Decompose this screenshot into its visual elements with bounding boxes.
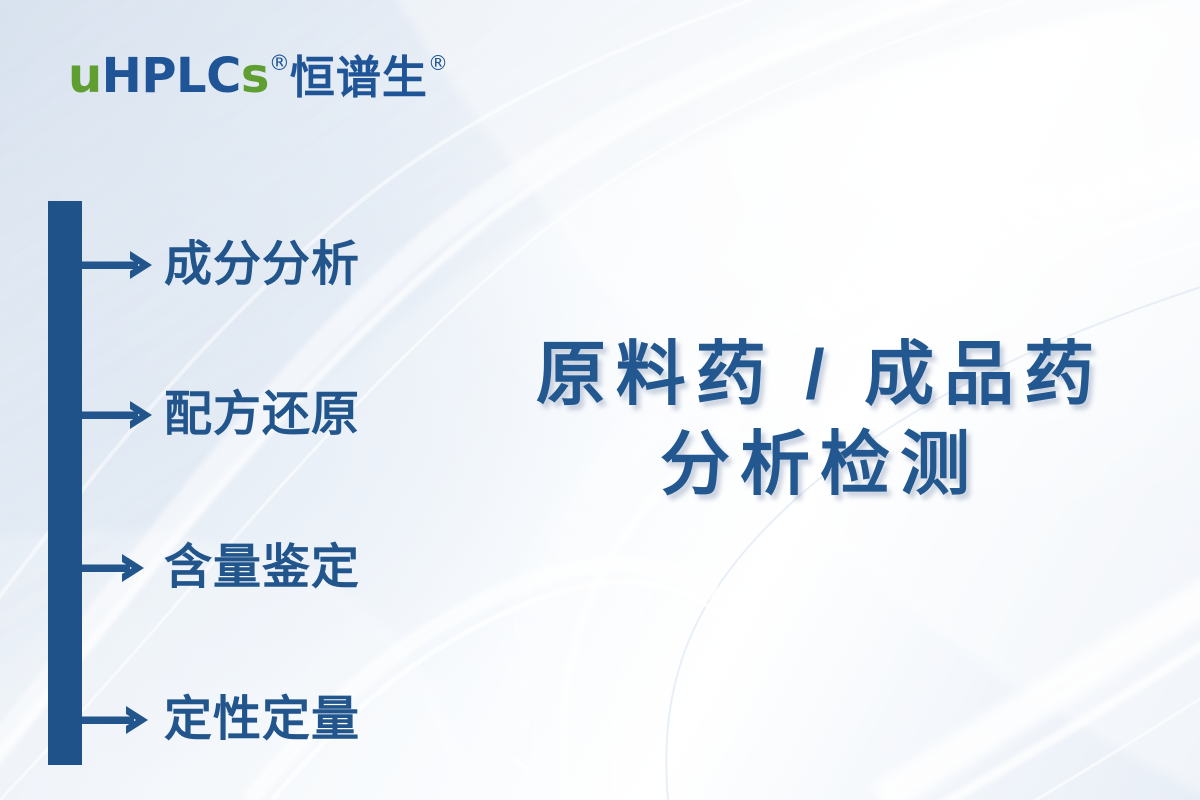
list-item[interactable]: 定性定量 [82,688,360,752]
logo-letters-hplc: HPLC [102,52,241,100]
list-item[interactable]: 配方还原 [82,383,360,447]
logo-letter-u: u [68,52,102,100]
list-item[interactable]: 成分分析 [82,233,360,297]
feature-list: 成分分析 配方还原 含量鉴定 定性定量 [82,201,512,765]
registered-mark-icon: ® [269,53,290,74]
feature-rail-bar [48,201,82,765]
headline-line-1: 原料药 / 成品药 [455,330,1175,420]
arrow-right-icon [82,245,160,285]
arrow-right-icon [82,700,160,740]
headline-line-2: 分析检测 [455,420,1175,510]
list-item-label: 配方还原 [164,391,360,439]
list-item[interactable]: 含量鉴定 [82,536,360,600]
list-item-label: 成分分析 [164,241,360,289]
arrow-right-icon [82,548,160,588]
registered-mark-2-icon: ® [428,53,448,73]
list-item-label: 含量鉴定 [164,544,360,592]
logo-chinese-name: 恒谱生 [290,55,428,100]
page-title: 原料药 / 成品药 分析检测 [455,330,1175,509]
promo-banner: u HPLC s ® 恒谱生 ® 成分分析 配方还原 [0,0,1200,800]
brand-logo[interactable]: u HPLC s ® 恒谱生 ® [68,52,448,100]
list-item-label: 定性定量 [164,696,360,744]
arrow-right-icon [82,395,160,435]
logo-letter-s: s [241,52,269,100]
